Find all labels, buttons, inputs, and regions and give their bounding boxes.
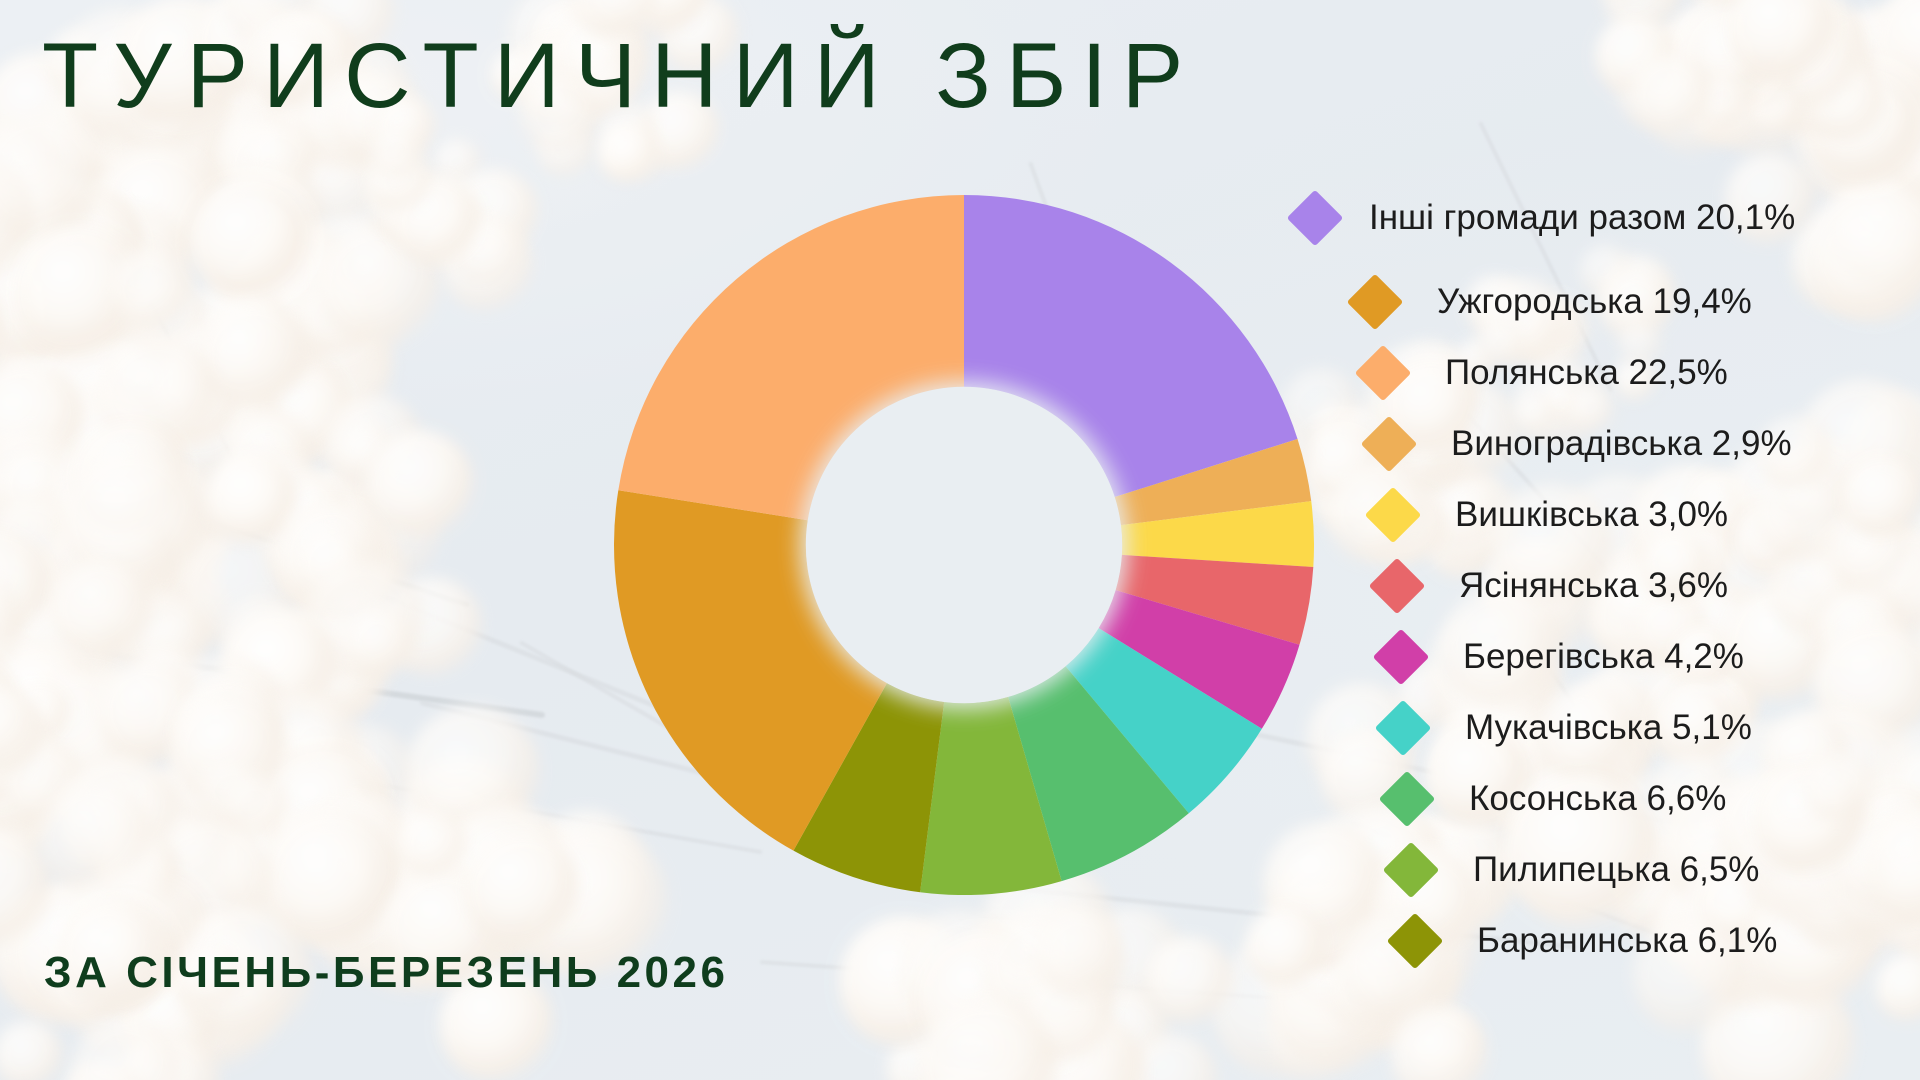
blossom [465, 833, 580, 948]
legend-diamond-icon [1355, 344, 1412, 401]
blossom [1035, 908, 1125, 998]
legend-item-label: Мукачівська 5,1% [1465, 708, 1752, 748]
donut-chart [614, 195, 1314, 895]
legend-diamond-icon [1379, 770, 1436, 827]
legend-item[interactable]: Виноградівська 2,9% [1295, 408, 1895, 479]
legend-diamond-icon [1373, 628, 1430, 685]
legend-item[interactable]: Полянська 22,5% [1295, 337, 1895, 408]
legend-item[interactable]: Мукачівська 5,1% [1295, 692, 1895, 763]
legend-diamond-icon [1347, 273, 1404, 330]
legend-item-label: Косонська 6,6% [1469, 779, 1726, 819]
legend-diamond-icon [1361, 415, 1418, 472]
legend-diamond-icon [1369, 557, 1426, 614]
legend-item[interactable]: Баранинська 6,1% [1295, 905, 1895, 976]
legend-diamond-icon [1383, 841, 1440, 898]
legend-item-label: Ясінянська 3,6% [1459, 566, 1728, 606]
blossom [1629, 53, 1712, 136]
legend-diamond-icon [1375, 699, 1432, 756]
blossom [1145, 936, 1233, 1024]
blossom [397, 809, 466, 878]
legend-item-label: Баранинська 6,1% [1477, 921, 1777, 961]
period-caption: ЗА СІЧЕНЬ-БЕРЕЗЕНЬ 2026 [44, 948, 728, 998]
legend-item-label: Вишківська 3,0% [1455, 495, 1728, 535]
blossom [369, 124, 425, 180]
blossom [108, 248, 191, 331]
legend-item[interactable]: Ужгородська 19,4% [1295, 266, 1895, 337]
blossom [365, 430, 473, 538]
legend-item[interactable]: Косонська 6,6% [1295, 763, 1895, 834]
legend-diamond-icon [1365, 486, 1422, 543]
legend-diamond-icon [1387, 912, 1444, 969]
blossom [190, 181, 310, 301]
legend-item[interactable]: Ясінянська 3,6% [1295, 550, 1895, 621]
legend-item[interactable]: Інші громади разом 20,1% [1295, 170, 1895, 266]
legend-item-label: Берегівська 4,2% [1463, 637, 1744, 677]
legend-item-label: Ужгородська 19,4% [1437, 282, 1752, 322]
legend-item[interactable]: Вишківська 3,0% [1295, 479, 1895, 550]
blossom [344, 607, 413, 676]
donut-center-hole [806, 387, 1122, 703]
legend-item-label: Пилипецька 6,5% [1473, 850, 1759, 890]
chart-legend: Інші громади разом 20,1%Ужгородська 19,4… [1295, 170, 1895, 976]
legend-item-label: Інші громади разом 20,1% [1369, 198, 1795, 238]
legend-item[interactable]: Берегівська 4,2% [1295, 621, 1895, 692]
page-title: ТУРИСТИЧНИЙ ЗБІР [42, 30, 1198, 122]
legend-item-label: Виноградівська 2,9% [1451, 424, 1792, 464]
legend-item-label: Полянська 22,5% [1445, 353, 1728, 393]
legend-diamond-icon [1287, 190, 1344, 247]
blossom [0, 1021, 62, 1080]
legend-item[interactable]: Пилипецька 6,5% [1295, 834, 1895, 905]
blossom [597, 122, 658, 183]
